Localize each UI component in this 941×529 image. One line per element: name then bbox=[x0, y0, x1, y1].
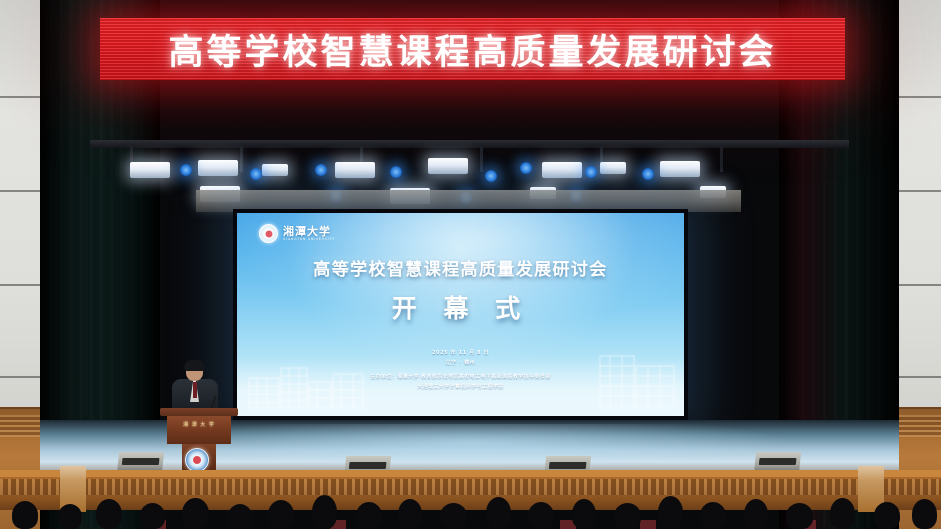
screen-organizer-line-1: 主办单位：湘潭大学 教育部东北地区高校电工电子基础课程教学指导委员会 bbox=[237, 373, 684, 380]
screen-organizer-line-2: 大连理工大学计算机科学与工程学院 bbox=[237, 383, 684, 390]
audience-head bbox=[572, 499, 596, 529]
audience-head bbox=[182, 498, 209, 529]
university-seal-emblem bbox=[185, 448, 209, 472]
audience-head bbox=[874, 502, 900, 529]
stage-light-icon bbox=[428, 158, 468, 174]
auditorium-wall-left bbox=[0, 0, 40, 529]
projection-screen: 湘潭大学 XIANGTAN UNIVERSITY 高等学校智慧课程高质量发展研讨… bbox=[233, 209, 688, 420]
screen-date: 2025 年 11 月 8 日 bbox=[237, 349, 684, 356]
screen-subtitle: 开 幕 式 bbox=[237, 289, 684, 325]
stage-light-icon bbox=[335, 162, 375, 178]
audience-head bbox=[528, 502, 554, 529]
audience-head bbox=[12, 501, 38, 529]
audience-head bbox=[614, 503, 641, 529]
stage-light-icon bbox=[198, 160, 238, 176]
stage-light-icon bbox=[542, 162, 582, 178]
screen-location: 辽宁 · 锦州 bbox=[237, 359, 684, 366]
audience-head bbox=[486, 497, 511, 529]
audience-head bbox=[658, 496, 683, 529]
stage-light-icon bbox=[130, 162, 170, 178]
audience-head bbox=[398, 499, 422, 529]
university-name-cn: 湘潭大学 bbox=[283, 226, 335, 237]
led-banner-text: 高等学校智慧课程高质量发展研讨会 bbox=[168, 24, 776, 75]
auditorium-scene: 高等学校智慧课程高质量发展研讨会 bbox=[0, 0, 941, 529]
audience-head bbox=[356, 502, 382, 529]
audience-head bbox=[96, 499, 122, 529]
university-seal-icon bbox=[259, 224, 278, 243]
screen-title: 高等学校智慧课程高质量发展研讨会 bbox=[237, 255, 684, 280]
university-logo: 湘潭大学 XIANGTAN UNIVERSITY bbox=[259, 224, 335, 243]
stage-floor-lightwash bbox=[150, 424, 791, 470]
podium-plaque-text: 湘 潭 大 学 bbox=[178, 421, 220, 429]
audience-head bbox=[228, 504, 252, 529]
led-banner: 高等学校智慧课程高质量发展研讨会 bbox=[100, 18, 845, 80]
stage-light-icon bbox=[262, 164, 288, 176]
audience-head bbox=[140, 503, 165, 529]
audience-head bbox=[268, 500, 294, 529]
stage-light-icon bbox=[600, 162, 626, 174]
audience-head bbox=[440, 503, 467, 529]
audience-head bbox=[912, 499, 937, 529]
audience-head bbox=[312, 495, 337, 529]
auditorium-wall-right bbox=[899, 0, 941, 529]
stage-light-icon bbox=[660, 161, 700, 177]
university-name-en: XIANGTAN UNIVERSITY bbox=[283, 238, 335, 241]
audience-head bbox=[700, 502, 726, 529]
audience-head bbox=[58, 504, 82, 529]
audience-head bbox=[786, 503, 813, 529]
audience-head bbox=[744, 499, 768, 529]
audience-seating bbox=[0, 486, 941, 529]
audience-head bbox=[830, 498, 855, 529]
